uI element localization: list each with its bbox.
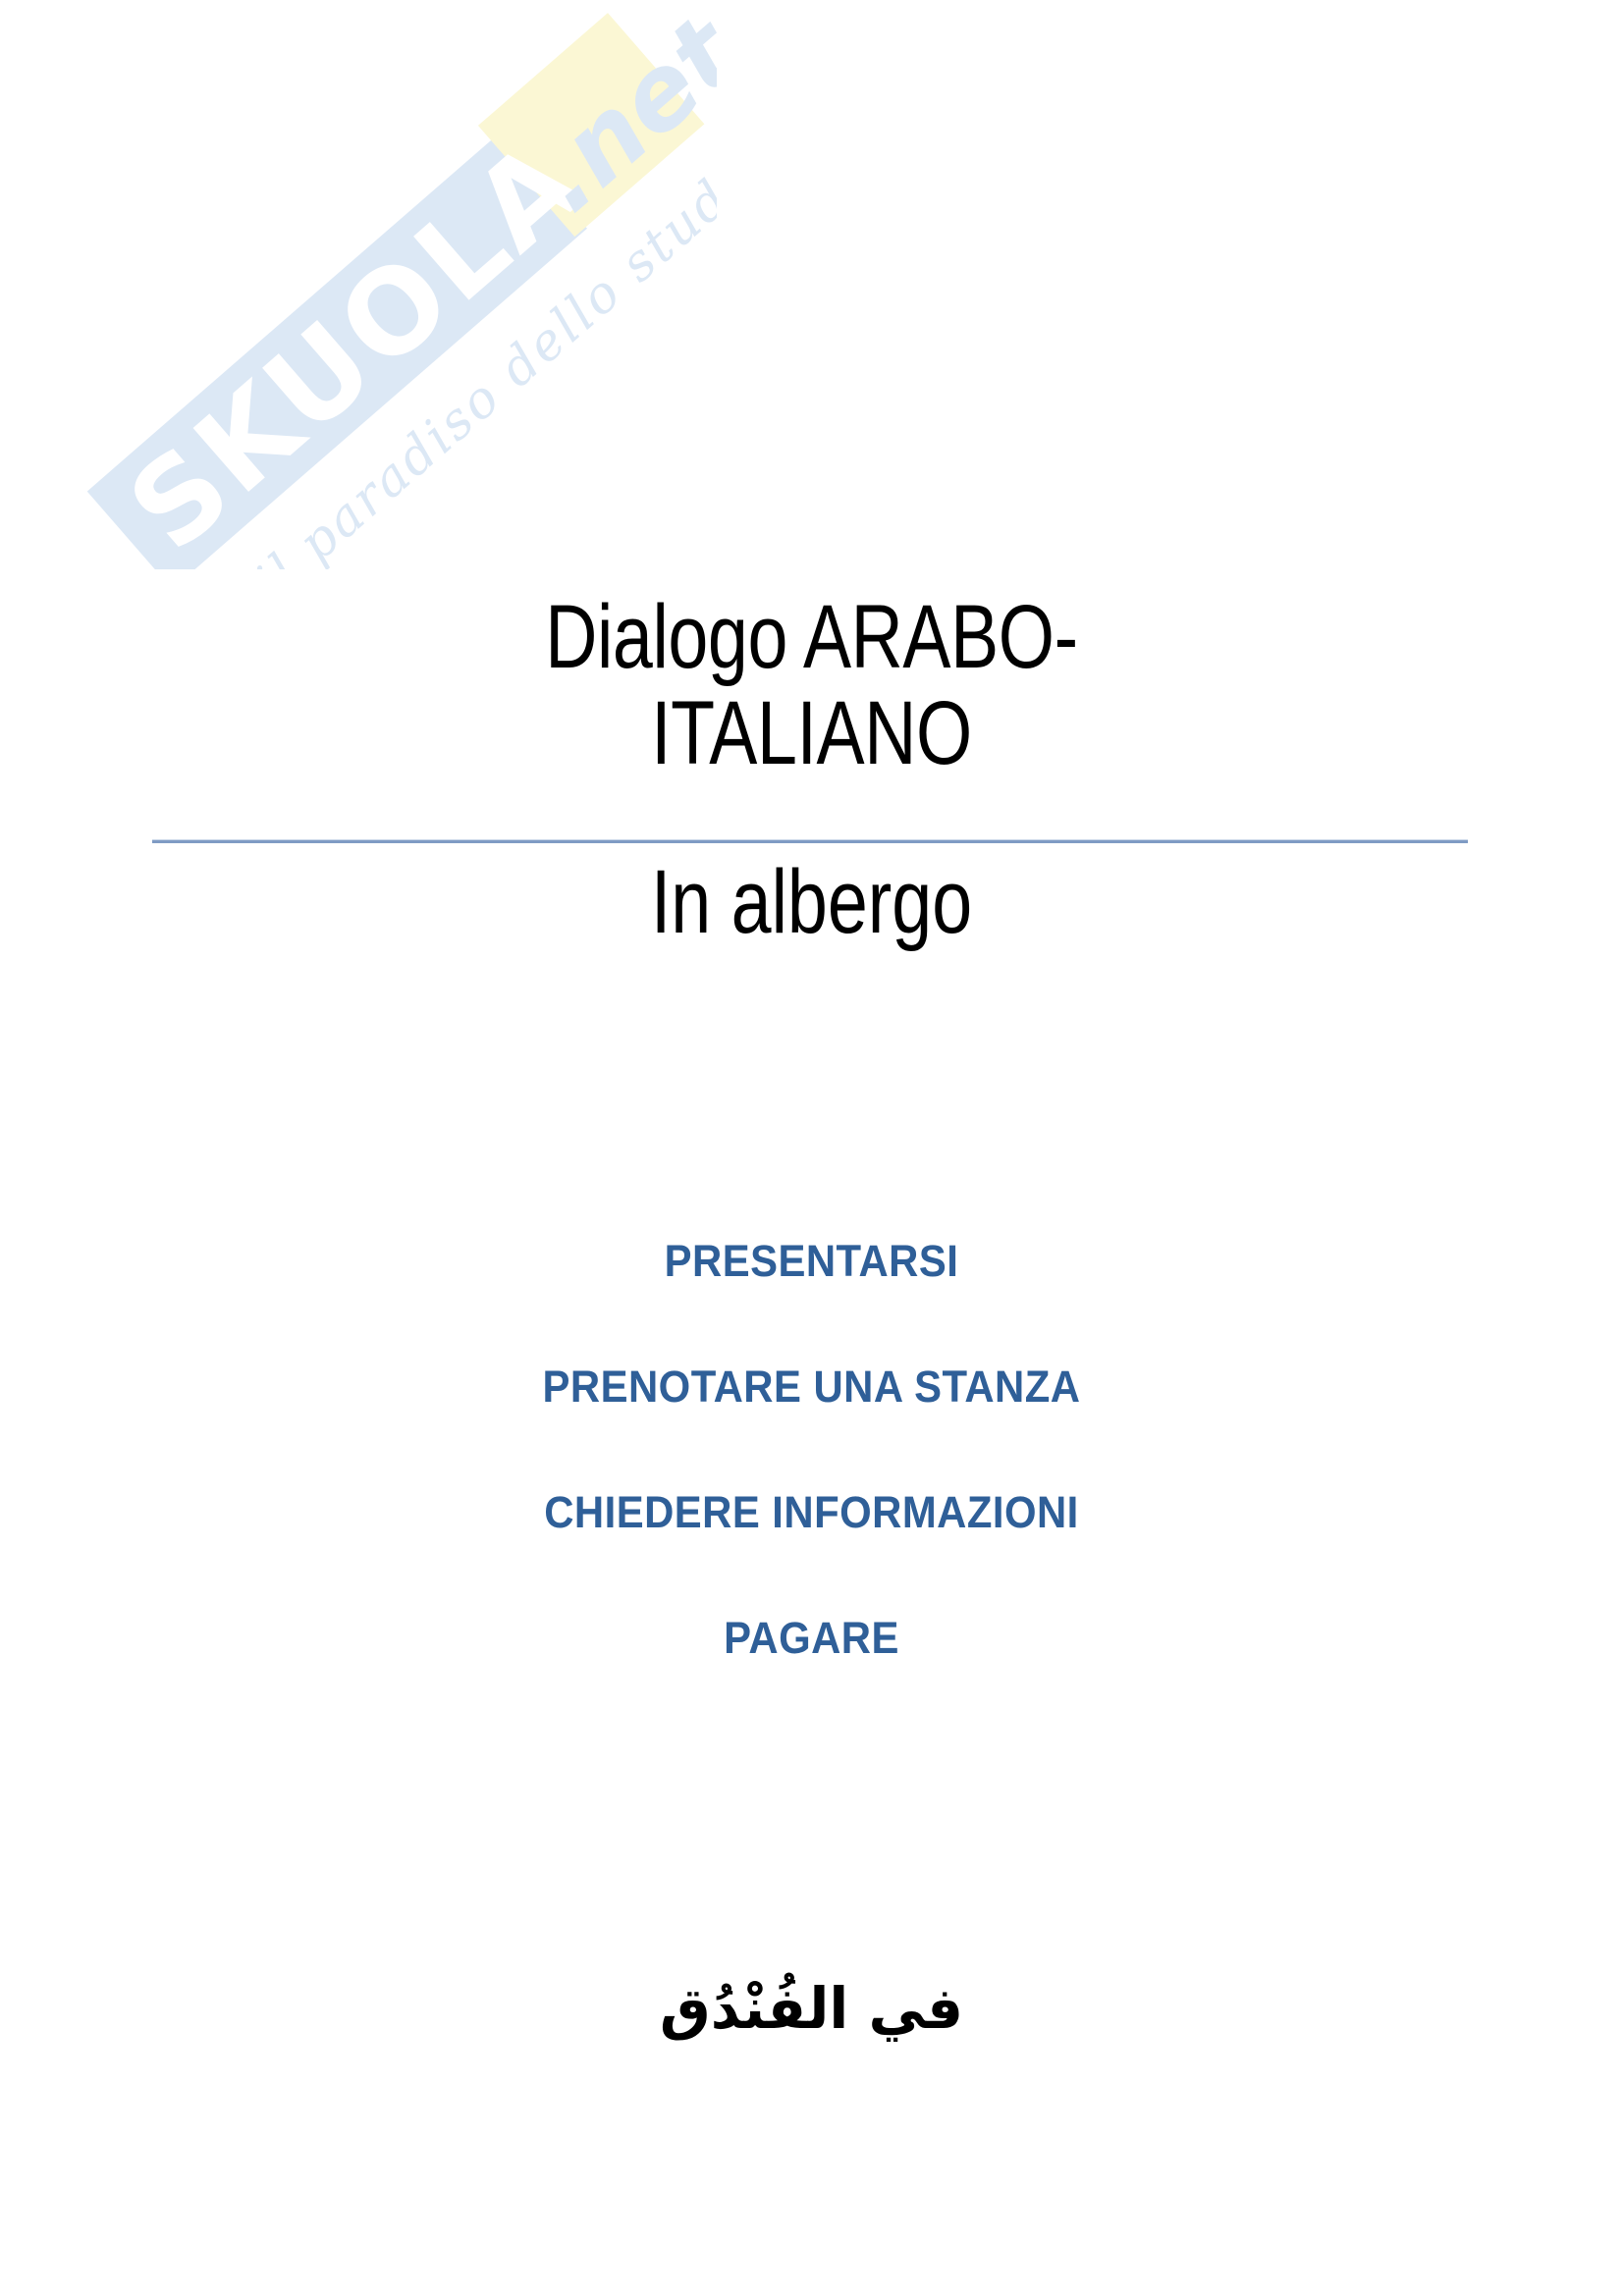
topic-item-prenotare-una-stanza: PRENOTARE UNA STANZA: [57, 1364, 1566, 1409]
document-page: SKUOLA .net il paradiso dello studente D…: [0, 0, 1623, 2296]
topic-item-pagare: PAGARE: [57, 1616, 1566, 1660]
skuola-net-watermark: SKUOLA .net il paradiso dello studente: [0, 0, 717, 569]
topic-list: PRESENTARSI PRENOTARE UNA STANZA CHIEDER…: [0, 1239, 1623, 1660]
topic-item-presentarsi: PRESENTARSI: [57, 1239, 1566, 1283]
page-title: Dialogo ARABO- ITALIANO: [162, 589, 1460, 782]
title-block: Dialogo ARABO- ITALIANO: [0, 589, 1623, 782]
topic-item-chiedere-informazioni: CHIEDERE INFORMAZIONI: [57, 1490, 1566, 1534]
title-divider: [152, 839, 1468, 843]
page-subtitle: In albergo: [162, 854, 1460, 950]
arabic-caption: في الفُنْدُق: [0, 1973, 1623, 2045]
